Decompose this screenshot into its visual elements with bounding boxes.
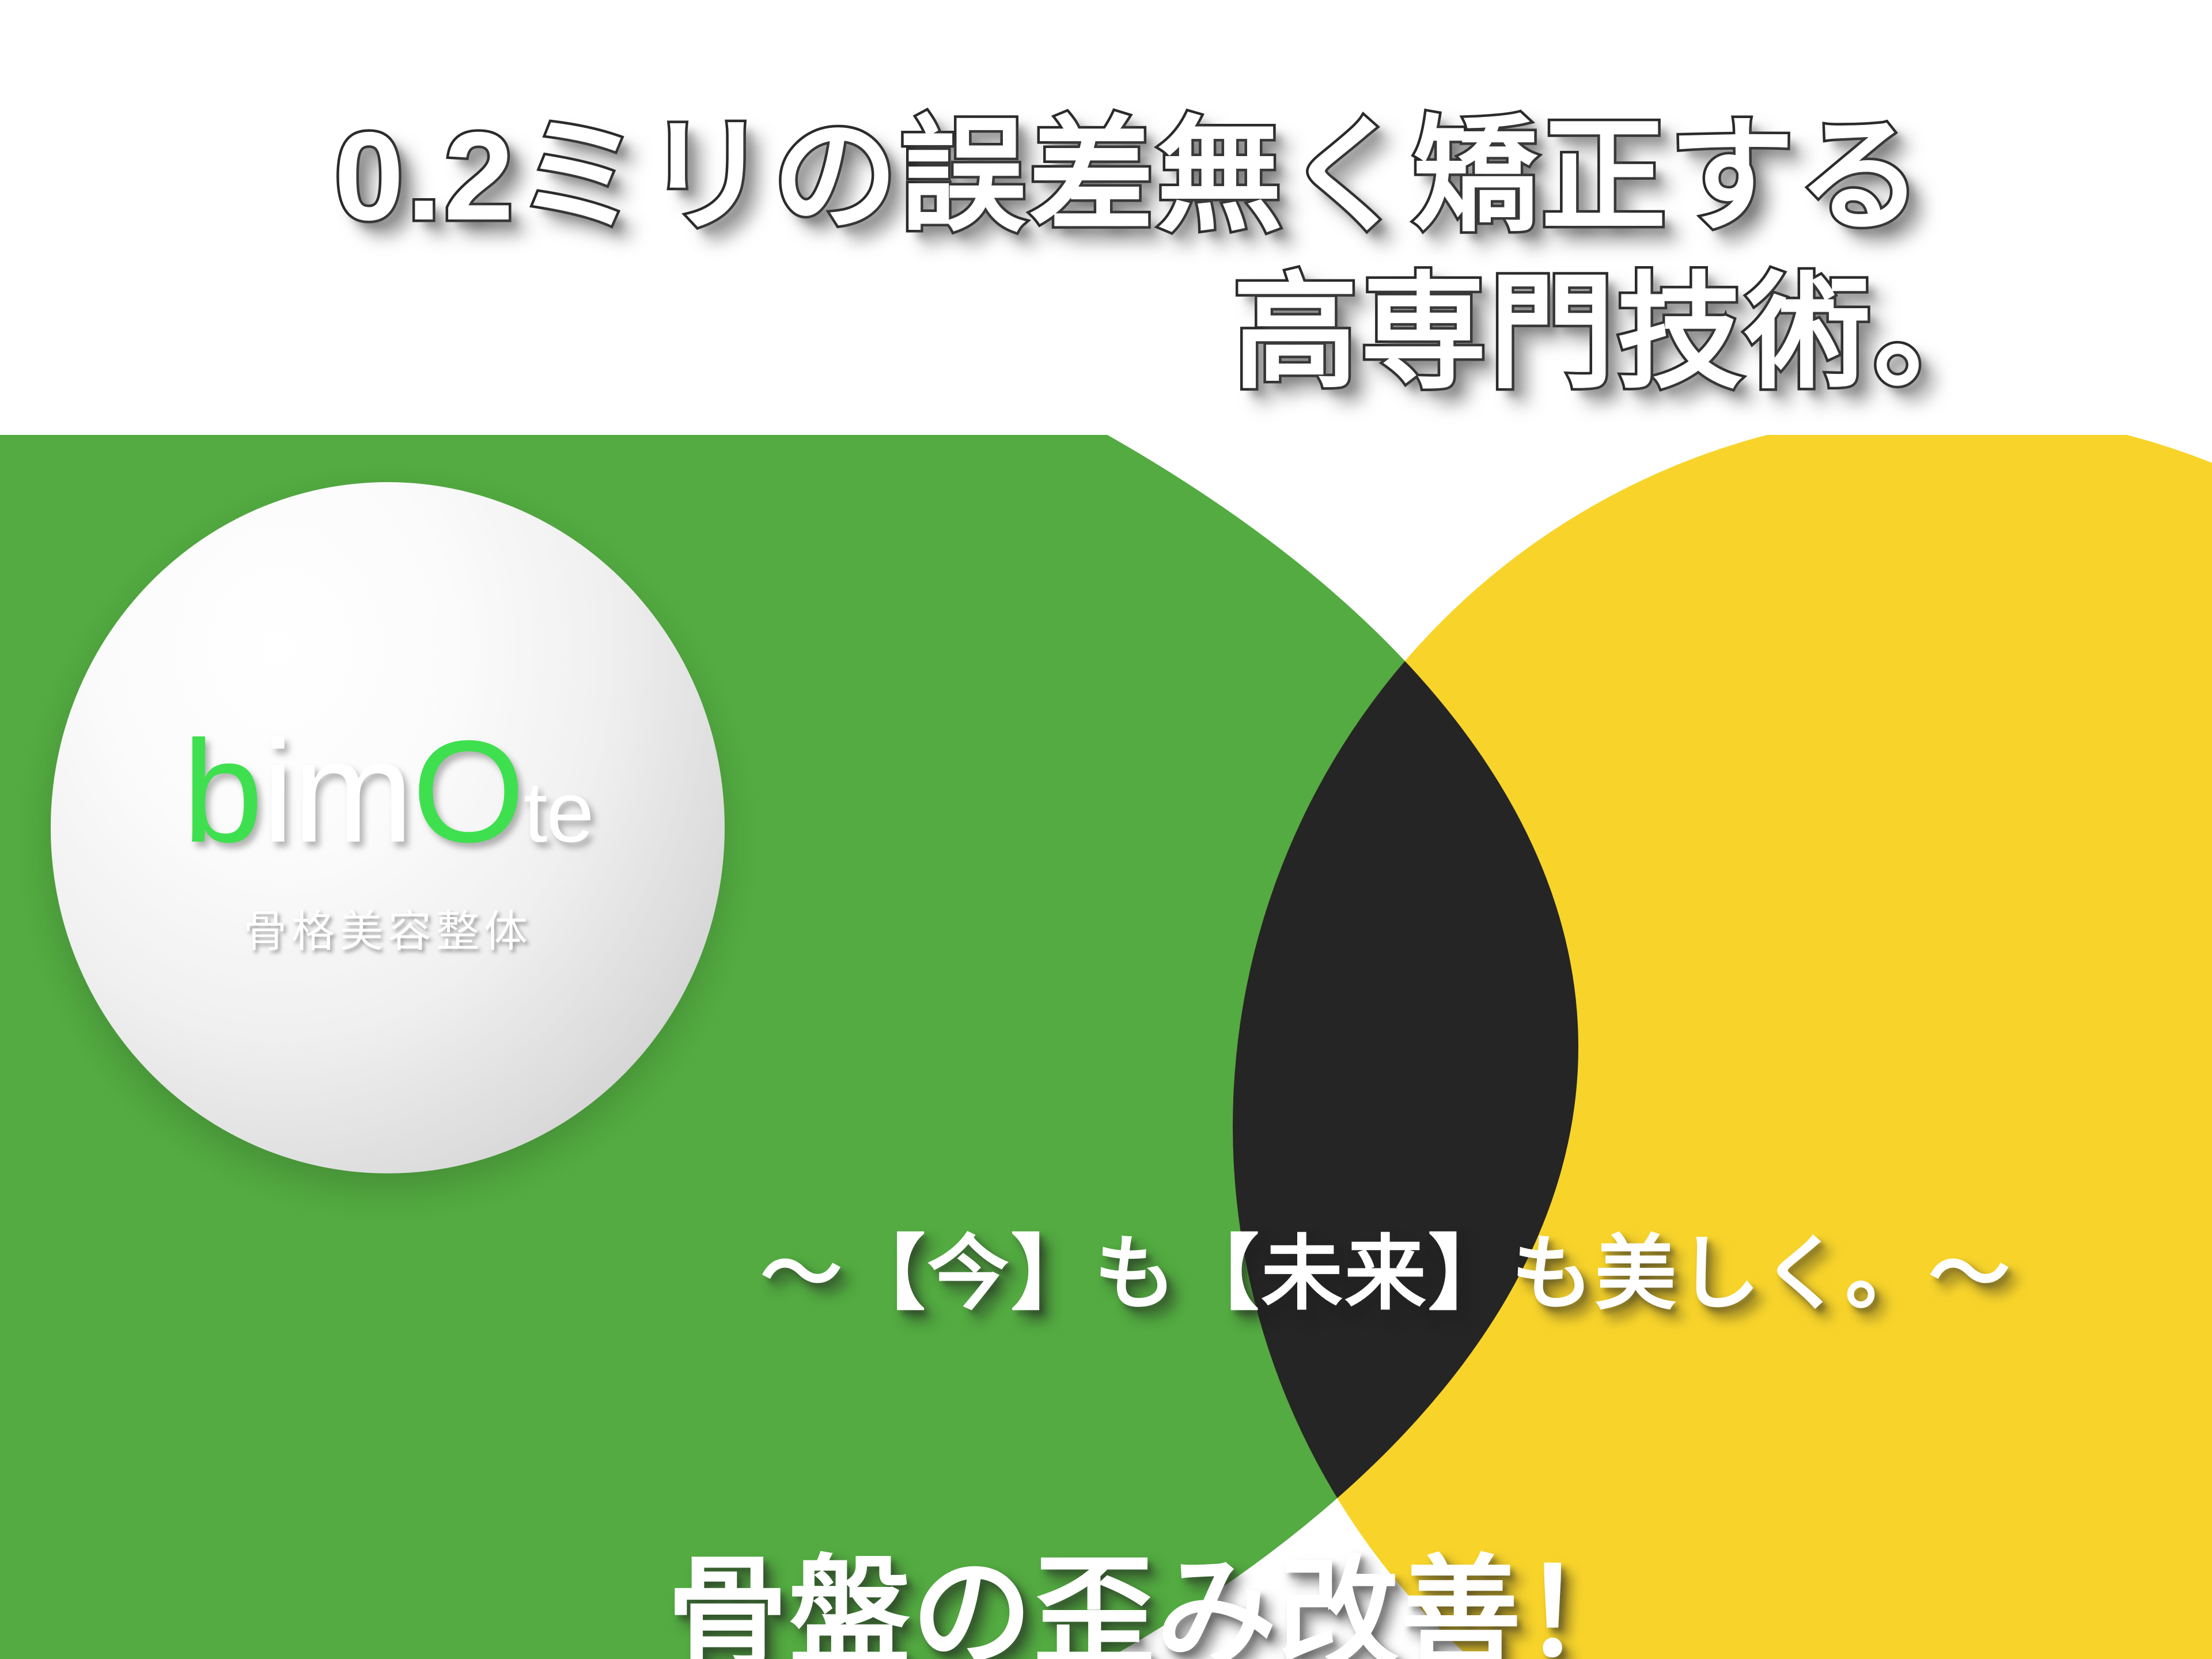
dark-overlap-shape: [1233, 435, 1578, 1659]
tagline-text: ～【今】も【未来】も美しく。～: [760, 1207, 2012, 1325]
logo-wordmark: bimOte: [183, 719, 593, 865]
logo-letters-te: te: [524, 763, 593, 860]
dark-overlap-clip: [1233, 435, 2212, 1659]
logo-letter-o: O: [412, 711, 524, 873]
logo-letters-im: im: [262, 711, 412, 873]
claim-headline-line-1: 骨盤の歪み改善！: [667, 1515, 1645, 1659]
logo-disc: bimOte 骨格美容整体: [51, 482, 725, 1173]
hero-artwork: bimOte 骨格美容整体 ～【今】も【未来】も美しく。～ 骨盤の歪み改善！ シ…: [0, 435, 2212, 1659]
logo-letter-b: b: [183, 711, 262, 873]
headline-line-secondary: 高専門技術。: [1233, 230, 2001, 412]
logo-subtitle: 骨格美容整体: [243, 896, 532, 959]
headline-band: 0.2ミリの誤差無く矯正する 高専門技術。: [0, 0, 2212, 435]
headline-line-primary: 0.2ミリの誤差無く矯正する: [334, 74, 1925, 256]
